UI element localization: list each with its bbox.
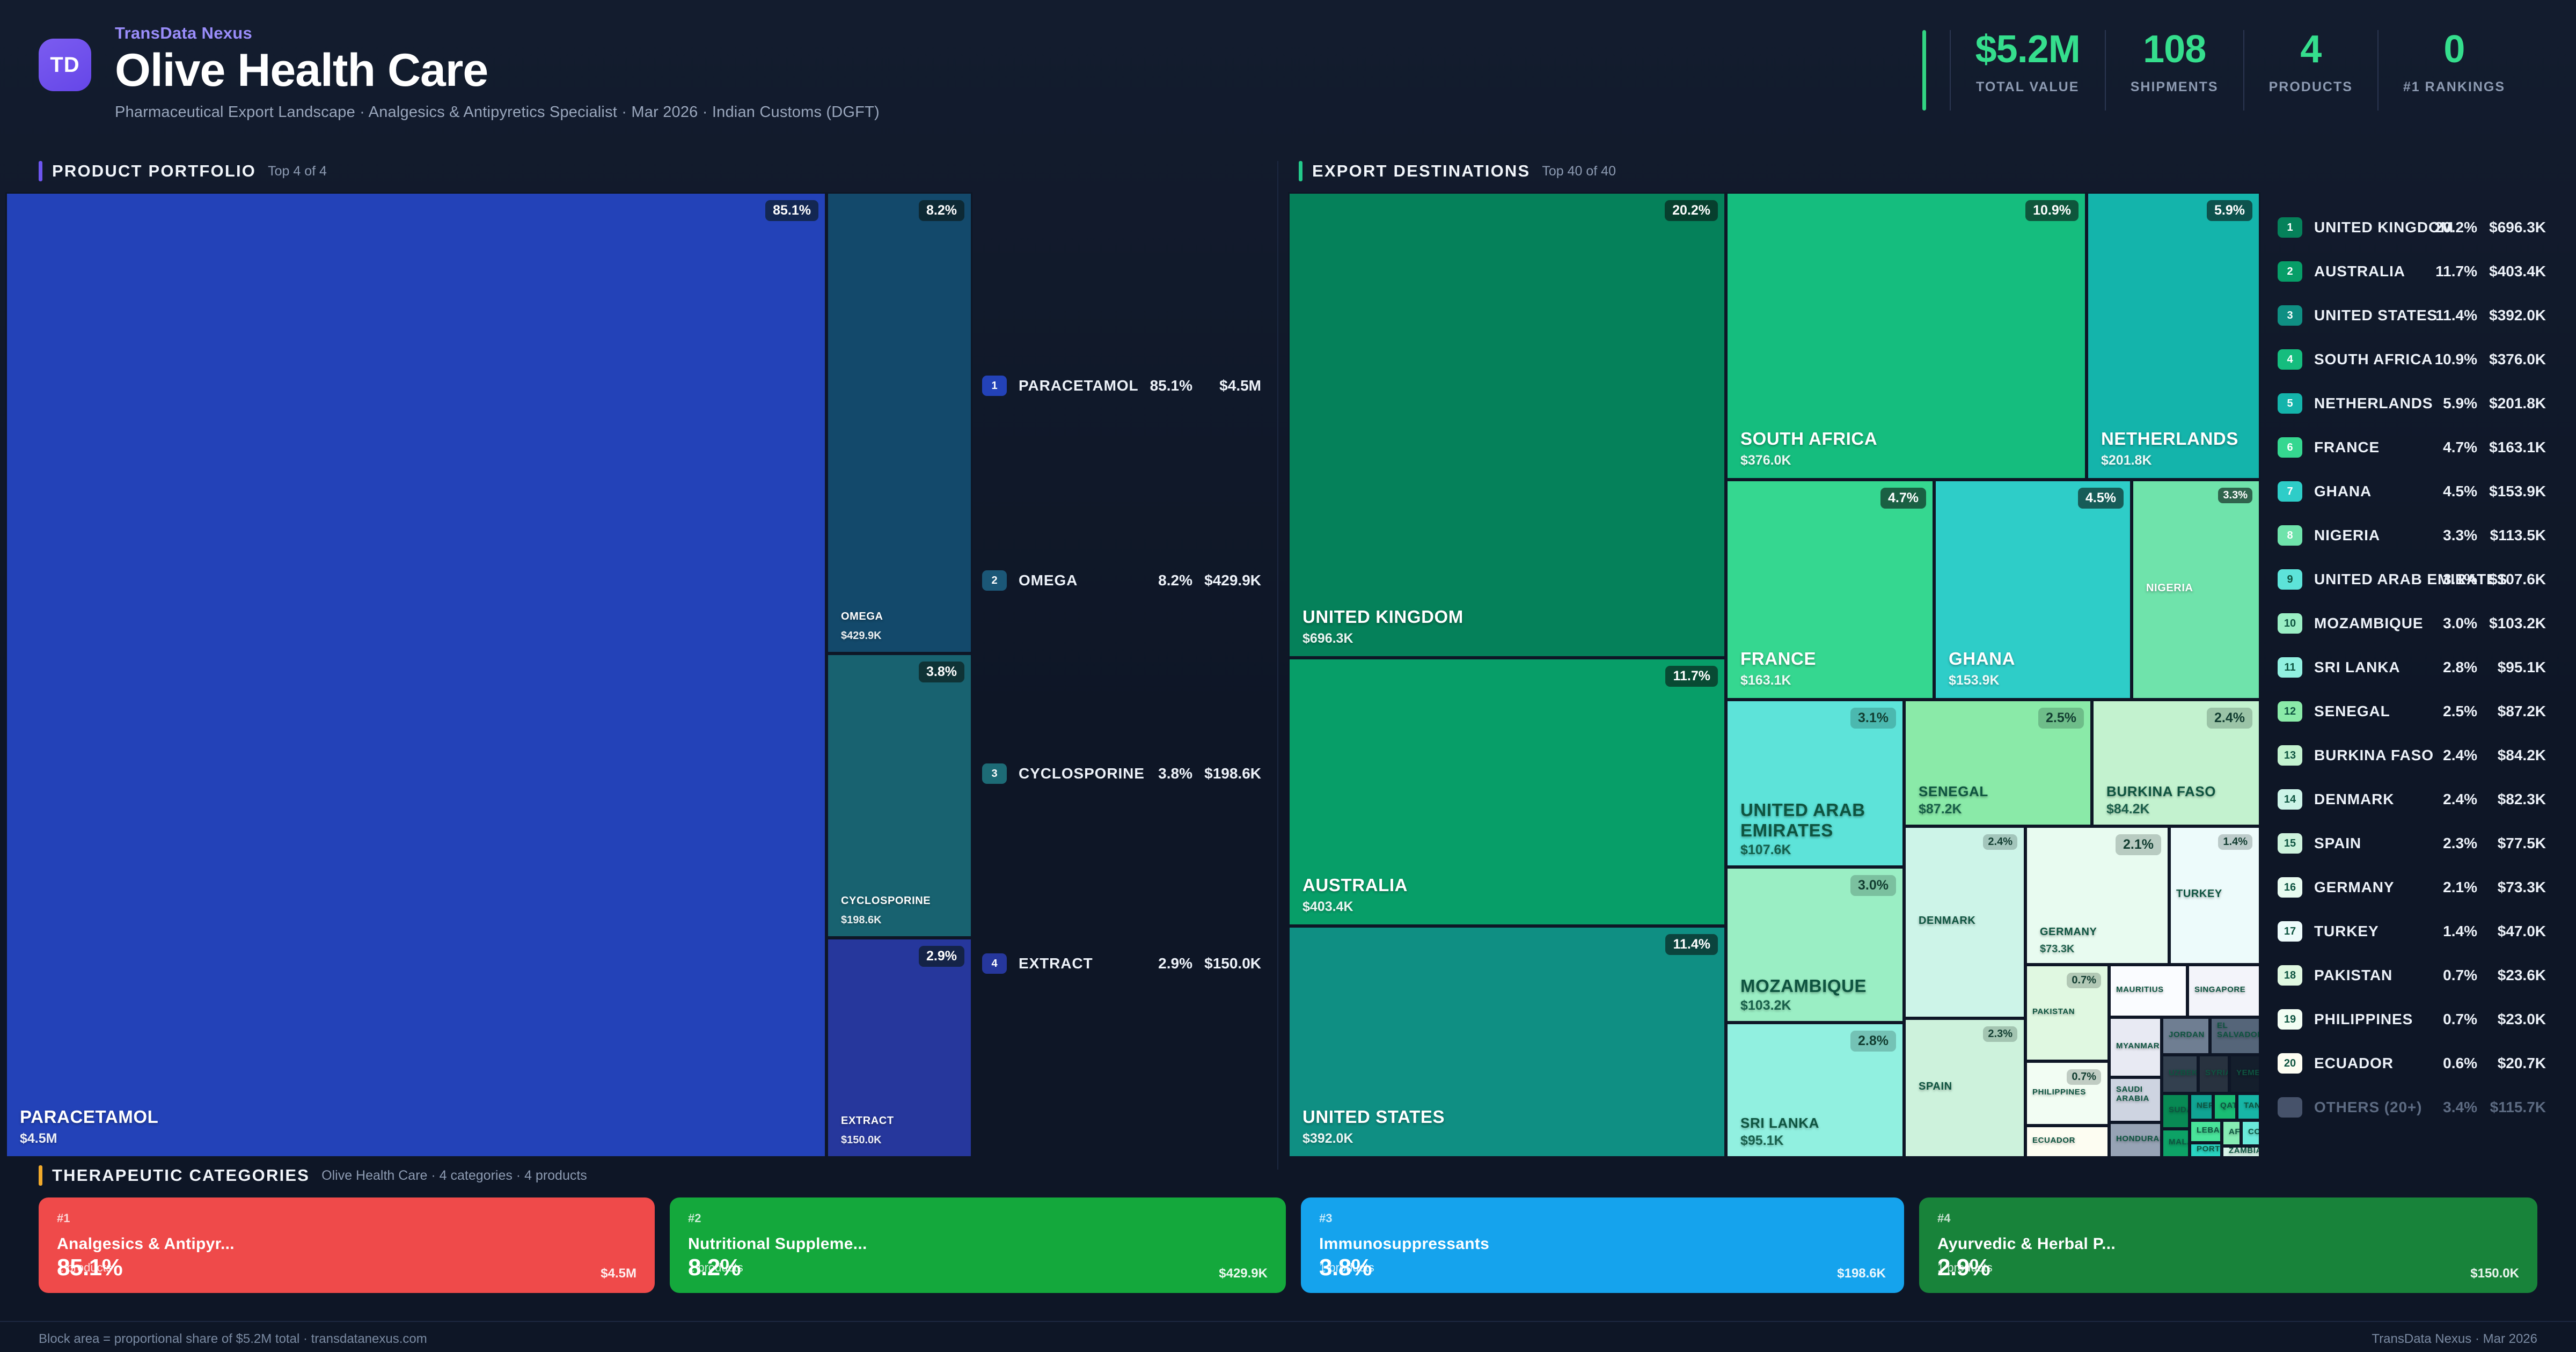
- tile-label: TANZANIA: [2244, 1101, 2260, 1110]
- treemap-tile[interactable]: MYANMAR: [2109, 1017, 2162, 1077]
- tile-percent: 2.4%: [1983, 834, 2017, 850]
- treemap-tile[interactable]: 0.7%PHILIPPINES: [2025, 1061, 2109, 1126]
- treemap-tile[interactable]: 3.0%MOZAMBIQUE$103.2K: [1726, 867, 1904, 1023]
- treemap-tile[interactable]: HONDURAS: [2109, 1122, 2162, 1158]
- tile-label: PHILIPPINES: [2032, 1088, 2086, 1097]
- rank-value: $23.6K: [2498, 967, 2546, 984]
- tile-label: SOUTH AFRICA: [1740, 429, 1877, 449]
- list-item[interactable]: 20ECUADOR0.6%$20.7K: [2278, 1053, 2546, 1074]
- rank-badge: 18: [2278, 965, 2302, 986]
- tile-label: BURKINA FASO: [2106, 783, 2216, 800]
- rank-label: TURKEY: [2314, 923, 2379, 940]
- rank-label: OMEGA: [1019, 572, 1078, 589]
- category-name: Immunosuppressants: [1319, 1235, 1886, 1253]
- stat-label: #1 RANKINGS: [2403, 79, 2505, 95]
- rank-value: $87.2K: [2498, 703, 2546, 720]
- tile-label: EL SALVADOR: [2217, 1021, 2260, 1039]
- rank-percent: 4.7%: [2443, 439, 2477, 456]
- rank-badge: 5: [2278, 393, 2302, 414]
- list-item[interactable]: 1UNITED KINGDOM20.2%$696.3K: [2278, 217, 2546, 238]
- rank-percent: 2.1%: [2443, 879, 2477, 896]
- rank-value: $47.0K: [2498, 923, 2546, 940]
- treemap-tile[interactable]: PORTUGAL: [2190, 1143, 2222, 1158]
- tile-label: UZBEKISTAN: [2169, 1068, 2198, 1077]
- rank-percent: 3.3%: [2443, 527, 2477, 544]
- list-item[interactable]: 12SENEGAL2.5%$87.2K: [2278, 701, 2546, 722]
- category-card[interactable]: #1Analgesics & Antipyr...1 products85.1%…: [39, 1197, 655, 1293]
- rank-percent: 2.4%: [2443, 747, 2477, 764]
- rank-label: OTHERS (20+): [2314, 1099, 2422, 1116]
- section-rule: [39, 161, 42, 181]
- list-item[interactable]: 3CYCLOSPORINE3.8%$198.6K: [982, 763, 1261, 784]
- list-item[interactable]: 2OMEGA8.2%$429.9K: [982, 570, 1261, 591]
- tile-value: $4.5M: [20, 1131, 57, 1147]
- rank-percent: 0.7%: [2443, 967, 2477, 984]
- tile-label: AFGHANISTAN: [2229, 1127, 2241, 1136]
- rank-badge: 1: [2278, 217, 2302, 238]
- tile-value: $107.6K: [1740, 842, 1791, 858]
- category-percent: 85.1%: [57, 1254, 122, 1281]
- tile-value: $163.1K: [1740, 673, 1791, 688]
- rank-label: PAKISTAN: [2314, 967, 2392, 984]
- rank-badge: 16: [2278, 877, 2302, 898]
- rank-value: $20.7K: [2498, 1055, 2546, 1072]
- tile-label: UNITED STATES: [1302, 1107, 1445, 1127]
- rank-label: CYCLOSPORINE: [1019, 765, 1145, 782]
- category-card[interactable]: #3Immunosuppressants1 products3.8%$198.6…: [1301, 1197, 1904, 1293]
- category-percent: 3.8%: [1319, 1254, 1372, 1281]
- treemap-tile[interactable]: ZAMBIA: [2222, 1146, 2260, 1158]
- rank-label: BURKINA FASO: [2314, 747, 2434, 764]
- category-rank: #3: [1319, 1211, 1886, 1225]
- rank-label: DENMARK: [2314, 791, 2394, 808]
- treemap-tile[interactable]: YEMEN: [2229, 1055, 2260, 1093]
- tile-label: HONDURAS: [2116, 1134, 2162, 1143]
- rank-percent: 11.4%: [2435, 307, 2477, 324]
- rank-value: $201.8K: [2489, 395, 2546, 412]
- rank-badge: 3: [2278, 305, 2302, 326]
- list-item[interactable]: 4SOUTH AFRICA10.9%$376.0K: [2278, 349, 2546, 370]
- tile-percent: 5.9%: [2207, 200, 2252, 221]
- tile-label: QATAR: [2220, 1101, 2237, 1110]
- tile-value: $153.9K: [1949, 673, 2000, 688]
- tile-percent: 2.3%: [1983, 1026, 2017, 1042]
- rank-badge: 4: [2278, 349, 2302, 370]
- treemap-tile[interactable]: 8.2%OMEGA$429.9K: [826, 192, 972, 653]
- treemap-tile[interactable]: 4.7%FRANCE$163.1K: [1726, 480, 1934, 700]
- category-rank: #2: [688, 1211, 1268, 1225]
- treemap-tile[interactable]: 2.3%SPAIN: [1904, 1018, 2025, 1158]
- tile-percent: 3.0%: [1850, 875, 1896, 896]
- list-item-others: OTHERS (20+)3.4%$115.7K: [2278, 1097, 2546, 1118]
- rank-percent: 20.2%: [2435, 219, 2477, 236]
- therapeutic-categories-band: THERAPEUTIC CATEGORIES Olive Health Care…: [0, 1165, 2576, 1316]
- rank-percent: 1.4%: [2443, 923, 2477, 940]
- tile-percent: 2.5%: [2038, 708, 2084, 729]
- treemap-tile[interactable]: 11.4%UNITED STATES$392.0K: [1288, 926, 1726, 1158]
- treemap-tile[interactable]: 5.9%NETHERLANDS$201.8K: [2087, 192, 2260, 480]
- section-title: PRODUCT PORTFOLIO: [52, 161, 256, 181]
- tile-label: LEBANON: [2197, 1126, 2222, 1135]
- section-title: EXPORT DESTINATIONS: [1312, 161, 1530, 181]
- tile-label: SENEGAL: [1919, 783, 1988, 800]
- rank-percent: 4.5%: [2443, 483, 2477, 500]
- tile-percent: 10.9%: [2025, 200, 2079, 221]
- tile-label: ZAMBIA: [2229, 1146, 2260, 1155]
- category-card[interactable]: #2Nutritional Suppleme...1 products8.2%$…: [670, 1197, 1286, 1293]
- section-title: THERAPEUTIC CATEGORIES: [52, 1166, 310, 1185]
- section-rule: [1299, 161, 1302, 181]
- tile-label: FRANCE: [1740, 649, 1816, 669]
- tile-value: $403.4K: [1302, 899, 1353, 915]
- stat-value: $5.2M: [1975, 30, 2080, 69]
- tile-percent: 3.1%: [1850, 708, 1896, 729]
- tile-value: $376.0K: [1740, 453, 1791, 468]
- tile-label: MYANMAR: [2116, 1041, 2160, 1050]
- list-item[interactable]: 2AUSTRALIA11.7%$403.4K: [2278, 261, 2546, 282]
- treemap-tile[interactable]: 3.3%NIGERIA: [2132, 480, 2260, 700]
- tile-label: MAURITIUS: [2116, 985, 2164, 994]
- tile-value: $87.2K: [1919, 802, 1962, 817]
- rank-badge: 6: [2278, 437, 2302, 458]
- rank-percent: 3.1%: [2443, 571, 2477, 588]
- rank-percent: 0.6%: [2443, 1055, 2477, 1072]
- tile-value: $73.3K: [2040, 943, 2075, 956]
- category-percent: 2.9%: [1937, 1254, 1990, 1281]
- rank-percent: 8.2%: [1158, 572, 1192, 589]
- tile-value: $103.2K: [1740, 998, 1791, 1013]
- rank-value: $150.0K: [1204, 955, 1261, 972]
- rank-value: $163.1K: [2489, 439, 2546, 456]
- rank-value: $73.3K: [2498, 879, 2546, 896]
- rank-percent: 3.0%: [2443, 615, 2477, 632]
- rank-value: $696.3K: [2489, 219, 2546, 236]
- category-name: Nutritional Suppleme...: [688, 1235, 1268, 1253]
- tile-percent: 0.7%: [2067, 1069, 2101, 1085]
- stat-label: SHIPMENTS: [2131, 79, 2219, 95]
- rank-label: UNITED KINGDOM: [2314, 219, 2454, 236]
- tile-percent: 3.3%: [2218, 488, 2252, 503]
- section-head-portfolio: PRODUCT PORTFOLIO Top 4 of 4: [39, 161, 327, 181]
- tile-label: PORTUGAL: [2197, 1144, 2222, 1153]
- treemap-tile[interactable]: EL SALVADOR: [2210, 1017, 2260, 1055]
- tile-label: PAKISTAN: [2032, 1007, 2075, 1016]
- rank-value: $84.2K: [2498, 747, 2546, 764]
- treemap-tile[interactable]: 85.1%PARACETAMOL$4.5M: [5, 192, 826, 1158]
- rank-value: $392.0K: [2489, 307, 2546, 324]
- rank-badge: 7: [2278, 481, 2302, 502]
- dashboard-page: TD TransData Nexus Olive Health Care Pha…: [0, 0, 2576, 1352]
- rank-value: $113.5K: [2490, 527, 2546, 544]
- tile-percent: 2.8%: [1850, 1031, 1896, 1052]
- tile-label: SAUDI ARABIA: [2116, 1085, 2160, 1103]
- page-title: Olive Health Care: [115, 46, 880, 95]
- stat-shipments: 108SHIPMENTS: [2105, 30, 2243, 111]
- tile-label: JORDAN: [2169, 1030, 2205, 1039]
- rank-label: SENEGAL: [2314, 703, 2390, 720]
- tile-label: NEPAL: [2197, 1101, 2213, 1110]
- rank-value: $103.2K: [2489, 615, 2546, 632]
- rank-badge: 10: [2278, 613, 2302, 634]
- rank-badge: 11: [2278, 657, 2302, 678]
- tile-percent: 85.1%: [765, 200, 818, 221]
- rank-badge: 12: [2278, 701, 2302, 722]
- treemap-tile[interactable]: MALAYSIA: [2162, 1129, 2190, 1158]
- rank-percent: 2.9%: [1158, 955, 1192, 972]
- rank-value: $77.5K: [2498, 835, 2546, 852]
- section-head-categories: THERAPEUTIC CATEGORIES Olive Health Care…: [39, 1165, 587, 1186]
- rank-value: $429.9K: [1204, 572, 1261, 589]
- rank-percent: 2.5%: [2443, 703, 2477, 720]
- category-value: $150.0K: [2470, 1266, 2519, 1281]
- list-item[interactable]: 9UNITED ARAB EMIRATES3.1%$107.6K: [2278, 569, 2546, 590]
- tile-label: UNITED KINGDOM: [1302, 607, 1463, 627]
- product-portfolio-treemap[interactable]: 85.1%PARACETAMOL$4.5M8.2%OMEGA$429.9K3.8…: [5, 192, 971, 1158]
- list-item[interactable]: 10MOZAMBIQUE3.0%$103.2K: [2278, 613, 2546, 634]
- export-destinations-treemap[interactable]: 20.2%UNITED KINGDOM$696.3K11.7%AUSTRALIA…: [1288, 192, 2260, 1158]
- list-item[interactable]: 11SRI LANKA2.8%$95.1K: [2278, 657, 2546, 678]
- tile-label: DENMARK: [1919, 915, 1975, 927]
- rank-badge: 2: [982, 570, 1007, 591]
- list-item[interactable]: 18PAKISTAN0.7%$23.6K: [2278, 965, 2546, 986]
- treemap-tile[interactable]: 3.1%UNITED ARAB EMIRATES$107.6K: [1726, 700, 1904, 867]
- treemap-tile[interactable]: 2.8%SRI LANKA$95.1K: [1726, 1023, 1904, 1158]
- tile-label: AUSTRALIA: [1302, 875, 1408, 895]
- rank-percent: 2.4%: [2443, 791, 2477, 808]
- rank-value: $95.1K: [2498, 659, 2546, 676]
- tile-label: CYCLOSPORINE: [841, 895, 931, 907]
- tile-value: $150.0K: [841, 1134, 882, 1147]
- tile-percent: 2.4%: [2207, 708, 2252, 729]
- list-item[interactable]: 15SPAIN2.3%$77.5K: [2278, 833, 2546, 854]
- list-item[interactable]: 14DENMARK2.4%$82.3K: [2278, 789, 2546, 810]
- section-subtitle: Olive Health Care · 4 categories · 4 pro…: [321, 1168, 587, 1184]
- tile-label: CONGO: [2248, 1127, 2260, 1136]
- list-item[interactable]: 5NETHERLANDS5.9%$201.8K: [2278, 393, 2546, 414]
- tile-percent: 3.8%: [919, 662, 964, 682]
- tile-percent: 4.7%: [1880, 488, 1926, 509]
- rank-badge: 17: [2278, 921, 2302, 942]
- tile-percent: 2.9%: [919, 946, 964, 967]
- rank-badge: 19: [2278, 1009, 2302, 1030]
- brand-name: TransData Nexus: [115, 24, 880, 43]
- rank-label: GERMANY: [2314, 879, 2394, 896]
- list-item[interactable]: 19PHILIPPINES0.7%$23.0K: [2278, 1009, 2546, 1030]
- rank-percent: 10.9%: [2435, 351, 2477, 368]
- tile-label: UNITED ARAB EMIRATES: [1740, 800, 1902, 841]
- tile-percent: 11.4%: [1665, 934, 1718, 955]
- rank-percent: 3.4%: [2443, 1099, 2477, 1116]
- treemap-tile[interactable]: 2.4%BURKINA FASO$84.2K: [2092, 700, 2260, 826]
- rank-badge: [2278, 1097, 2302, 1118]
- category-rank: #4: [1937, 1211, 2519, 1225]
- treemap-tile[interactable]: CONGO: [2241, 1120, 2260, 1146]
- tile-label: GERMANY: [2040, 926, 2097, 938]
- section-subtitle: Top 40 of 40: [1542, 164, 1616, 179]
- treemap-tile[interactable]: 20.2%UNITED KINGDOM$696.3K: [1288, 192, 1726, 658]
- tile-label: SPAIN: [1919, 1081, 1952, 1093]
- stat-total-value: $5.2MTOTAL VALUE: [1950, 30, 2105, 111]
- treemap-tile[interactable]: UZBEKISTAN: [2162, 1055, 2198, 1093]
- tile-label: NIGERIA: [2146, 582, 2193, 594]
- category-rank: #1: [57, 1211, 636, 1225]
- treemap-tile[interactable]: 0.7%PAKISTAN: [2025, 965, 2109, 1061]
- rank-value: $198.6K: [1204, 765, 1261, 782]
- stat-label: TOTAL VALUE: [1976, 79, 2079, 95]
- tile-percent: 4.5%: [2078, 488, 2124, 509]
- treemap-tile[interactable]: QATAR: [2213, 1093, 2237, 1120]
- tile-value: $429.9K: [841, 630, 882, 642]
- stat-value: 108: [2143, 30, 2206, 69]
- rank-value: $376.0K: [2489, 351, 2546, 368]
- category-value: $4.5M: [601, 1266, 636, 1281]
- rank-label: AUSTRALIA: [2314, 263, 2405, 280]
- page-subtitle: Pharmaceutical Export Landscape · Analge…: [115, 104, 880, 121]
- rank-label: FRANCE: [2314, 439, 2380, 456]
- list-item[interactable]: 13BURKINA FASO2.4%$84.2K: [2278, 745, 2546, 766]
- rank-label: GHANA: [2314, 483, 2372, 500]
- treemap-tile[interactable]: 2.5%SENEGAL$87.2K: [1904, 700, 2092, 826]
- rank-percent: 85.1%: [1150, 377, 1192, 394]
- tile-label: MOZAMBIQUE: [1740, 976, 1867, 996]
- list-item[interactable]: 4EXTRACT2.9%$150.0K: [982, 953, 1261, 974]
- rank-value: $115.7K: [2490, 1099, 2546, 1116]
- stat-label: PRODUCTS: [2269, 79, 2353, 95]
- rank-percent: 3.8%: [1158, 765, 1192, 782]
- treemap-tile[interactable]: 4.5%GHANA$153.9K: [1934, 480, 2132, 700]
- rank-value: $107.6K: [2489, 571, 2546, 588]
- rank-badge: 15: [2278, 833, 2302, 854]
- list-item[interactable]: 1PARACETAMOL85.1%$4.5M: [982, 376, 1261, 396]
- tile-label: PARACETAMOL: [20, 1107, 158, 1127]
- treemap-tile[interactable]: SAUDI ARABIA: [2109, 1077, 2162, 1122]
- list-item[interactable]: 7GHANA4.5%$153.9K: [2278, 481, 2546, 502]
- tile-label: NETHERLANDS: [2101, 429, 2238, 449]
- treemap-tile[interactable]: 3.8%CYCLOSPORINE$198.6K: [826, 653, 972, 938]
- list-item[interactable]: 17TURKEY1.4%$47.0K: [2278, 921, 2546, 942]
- rank-label: EXTRACT: [1019, 955, 1093, 972]
- company-logo: TD: [39, 39, 91, 91]
- category-percent: 8.2%: [688, 1254, 741, 1281]
- list-item[interactable]: 8NIGERIA3.3%$113.5K: [2278, 525, 2546, 546]
- header-stats: $5.2MTOTAL VALUE108SHIPMENTS4PRODUCTS0#1…: [1922, 30, 2530, 111]
- treemap-tile[interactable]: 10.9%SOUTH AFRICA$376.0K: [1726, 192, 2087, 480]
- treemap-tile[interactable]: ECUADOR: [2025, 1126, 2109, 1158]
- rank-label: SRI LANKA: [2314, 659, 2401, 676]
- treemap-tile[interactable]: SINGAPORE: [2187, 965, 2260, 1017]
- stat-1-rankings: 0#1 RANKINGS: [2377, 30, 2530, 111]
- section-head-destinations: EXPORT DESTINATIONS Top 40 of 40: [1299, 161, 1616, 181]
- rank-value: $153.9K: [2489, 483, 2546, 500]
- rank-badge: 1: [982, 376, 1007, 396]
- rank-label: NIGERIA: [2314, 527, 2380, 544]
- tile-label: ECUADOR: [2032, 1136, 2075, 1145]
- tile-percent: 11.7%: [1665, 666, 1718, 687]
- tile-label: SRI LANKA: [1740, 1115, 1819, 1131]
- treemap-tile[interactable]: NEPAL: [2190, 1093, 2213, 1120]
- tile-value: $198.6K: [841, 914, 882, 927]
- list-item[interactable]: 6FRANCE4.7%$163.1K: [2278, 437, 2546, 458]
- section-subtitle: Top 4 of 4: [268, 164, 327, 179]
- product-rank-list[interactable]: 1PARACETAMOL85.1%$4.5M2OMEGA8.2%$429.9K3…: [982, 376, 1261, 976]
- stat-value: 0: [2443, 30, 2464, 69]
- rank-label: SPAIN: [2314, 835, 2361, 852]
- treemap-tile[interactable]: 11.7%AUSTRALIA$403.4K: [1288, 658, 1726, 926]
- rank-percent: 2.8%: [2443, 659, 2477, 676]
- tile-value: $201.8K: [2101, 453, 2152, 468]
- treemap-tile[interactable]: 2.9%EXTRACT$150.0K: [826, 938, 972, 1158]
- treemap-tile[interactable]: JORDAN: [2162, 1017, 2210, 1055]
- treemap-tile[interactable]: 2.4%DENMARK: [1904, 826, 2025, 1018]
- rank-badge: 9: [2278, 569, 2302, 590]
- tile-label: YEMEN: [2236, 1068, 2260, 1077]
- list-item[interactable]: 16GERMANY2.1%$73.3K: [2278, 877, 2546, 898]
- treemap-tile[interactable]: 2.1%GERMANY$73.3K: [2025, 826, 2169, 965]
- stat-products: 4PRODUCTS: [2243, 30, 2377, 111]
- treemap-tile[interactable]: TANZANIA: [2237, 1093, 2260, 1120]
- tile-label: TURKEY: [2176, 888, 2222, 900]
- stat-value: 4: [2300, 30, 2321, 69]
- header-identity: TD TransData Nexus Olive Health Care Pha…: [39, 24, 880, 121]
- tile-percent: 2.1%: [2116, 834, 2161, 855]
- treemap-tile[interactable]: AFGHANISTAN: [2222, 1120, 2241, 1146]
- panel-divider: [1277, 161, 1278, 1170]
- tile-percent: 0.7%: [2067, 973, 2101, 988]
- tile-value: $95.1K: [1740, 1133, 1784, 1149]
- tile-value: $696.3K: [1302, 631, 1353, 646]
- tile-label: SUDAN: [2169, 1105, 2190, 1114]
- category-card[interactable]: #4Ayurvedic & Herbal P...1 products2.9%$…: [1919, 1197, 2537, 1293]
- rank-label: SOUTH AFRICA: [2314, 351, 2433, 368]
- rank-percent: 5.9%: [2443, 395, 2477, 412]
- footer-attribution: TransData Nexus · Mar 2026: [2372, 1332, 2537, 1347]
- rank-percent: 2.3%: [2443, 835, 2477, 852]
- treemap-tile[interactable]: MAURITIUS: [2109, 965, 2187, 1017]
- rank-value: $4.5M: [1219, 377, 1261, 394]
- rank-badge: 3: [982, 763, 1007, 784]
- rank-label: MOZAMBIQUE: [2314, 615, 2423, 632]
- category-name: Analgesics & Antipyr...: [57, 1235, 636, 1253]
- treemap-tile[interactable]: 1.4%TURKEY: [2169, 826, 2260, 965]
- rank-label: UNITED ARAB EMIRATES: [2314, 571, 2507, 588]
- rank-value: $403.4K: [2489, 263, 2546, 280]
- rank-label: PHILIPPINES: [2314, 1011, 2413, 1028]
- page-header: TD TransData Nexus Olive Health Care Pha…: [0, 0, 2576, 151]
- tile-value: $392.0K: [1302, 1131, 1353, 1147]
- rank-badge: 4: [982, 953, 1007, 974]
- rank-badge: 8: [2278, 525, 2302, 546]
- tile-percent: 8.2%: [919, 200, 964, 221]
- list-item[interactable]: 3UNITED STATES11.4%$392.0K: [2278, 305, 2546, 326]
- tile-label: SYRIA: [2205, 1068, 2229, 1077]
- rank-label: UNITED STATES: [2314, 307, 2438, 324]
- rank-badge: 20: [2278, 1053, 2302, 1074]
- tile-value: $84.2K: [2106, 802, 2150, 817]
- rank-value: $82.3K: [2498, 791, 2546, 808]
- treemap-tile[interactable]: SYRIA: [2198, 1055, 2229, 1093]
- tile-label: MALAYSIA: [2169, 1137, 2190, 1147]
- treemap-tile[interactable]: SUDAN: [2162, 1093, 2190, 1129]
- destination-rank-list[interactable]: 1UNITED KINGDOM20.2%$696.3K2AUSTRALIA11.…: [2278, 217, 2546, 1129]
- tile-label: OMEGA: [841, 611, 883, 623]
- category-name: Ayurvedic & Herbal P...: [1937, 1235, 2519, 1253]
- rank-label: PARACETAMOL: [1019, 377, 1139, 394]
- treemap-tile[interactable]: LEBANON: [2190, 1120, 2222, 1143]
- rank-badge: 2: [2278, 261, 2302, 282]
- tile-label: EXTRACT: [841, 1115, 894, 1127]
- category-value: $198.6K: [1837, 1266, 1886, 1281]
- rank-badge: 13: [2278, 745, 2302, 766]
